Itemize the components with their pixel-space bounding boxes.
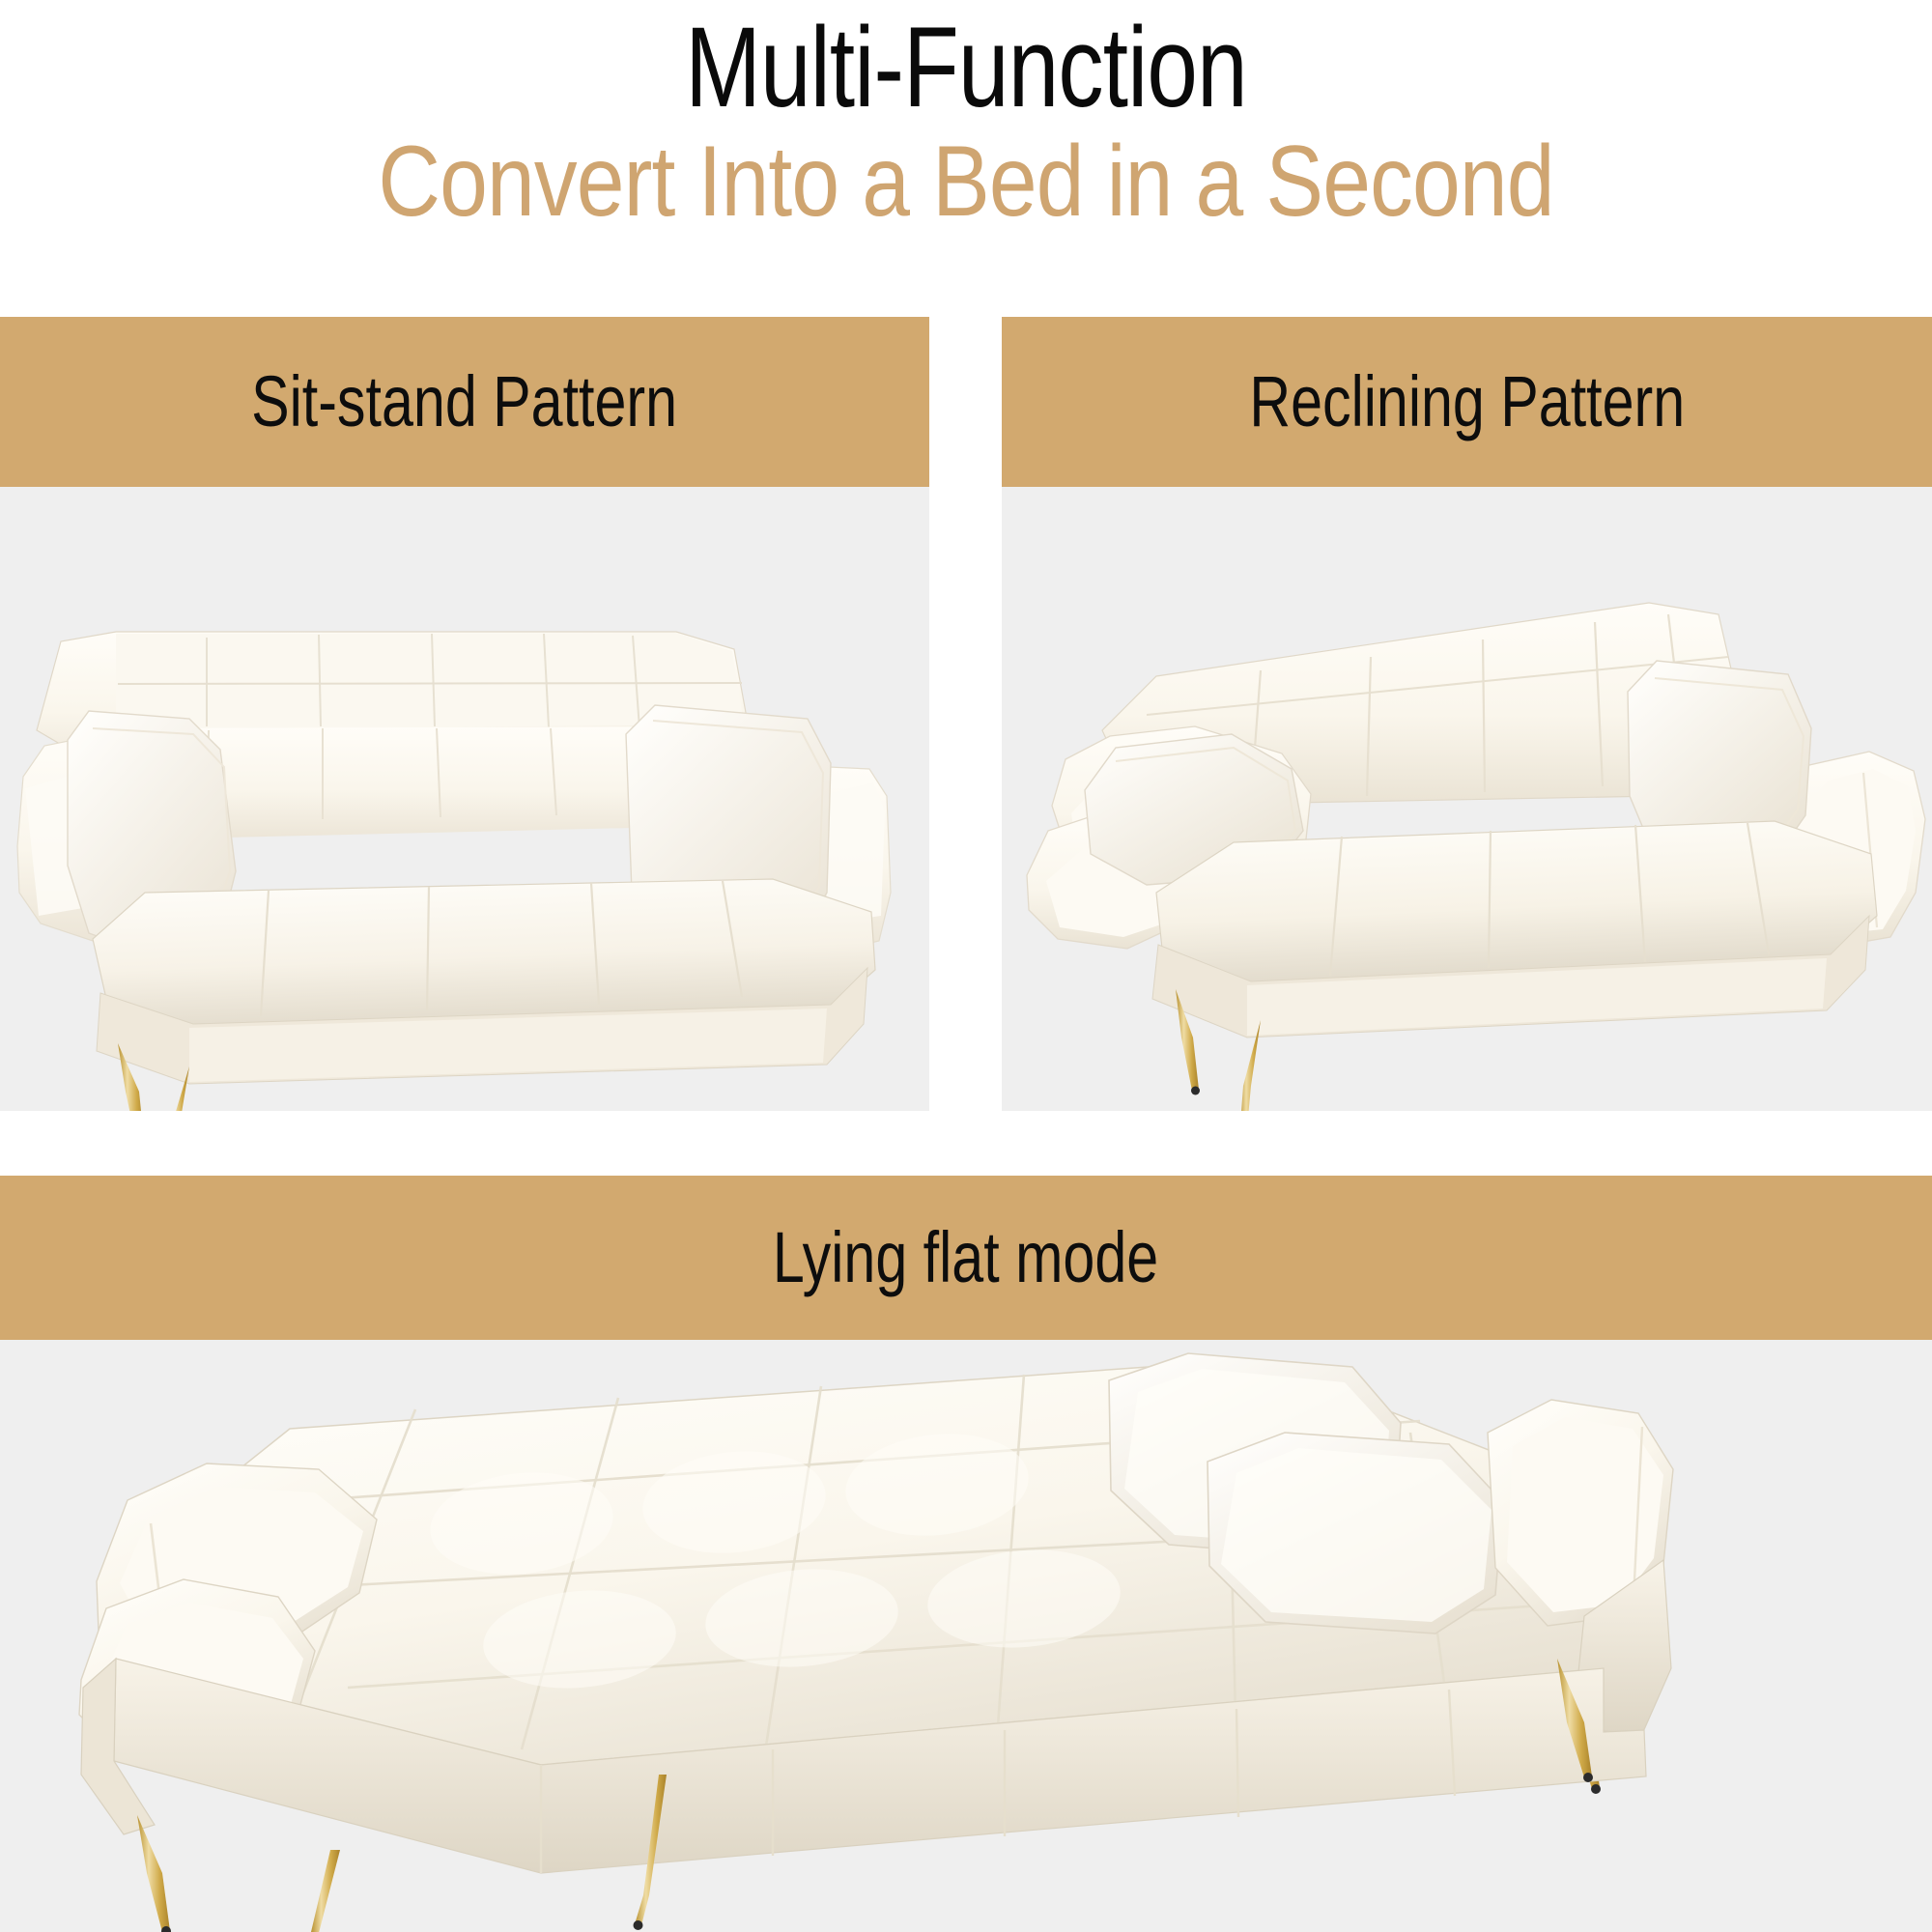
banner-reclining: Reclining Pattern bbox=[1002, 317, 1932, 487]
banner-label-lying-flat: Lying flat mode bbox=[773, 1219, 1158, 1296]
infographic-page: Multi-Function Convert Into a Bed in a S… bbox=[0, 0, 1932, 1932]
page-title: Multi-Function bbox=[193, 6, 1739, 129]
panel-lying-flat: Lying flat mode bbox=[0, 1176, 1932, 1932]
banner-label-sit-stand: Sit-stand Pattern bbox=[252, 363, 678, 440]
panel-sit-stand: Sit-stand Pattern bbox=[0, 317, 929, 1111]
banner-sit-stand: Sit-stand Pattern bbox=[0, 317, 929, 487]
banner-label-reclining: Reclining Pattern bbox=[1249, 363, 1685, 440]
sofa-sit-stand-illustration bbox=[0, 487, 929, 1111]
product-photo-lying-flat bbox=[0, 1340, 1932, 1932]
header: Multi-Function Convert Into a Bed in a S… bbox=[0, 0, 1932, 309]
panel-reclining: Reclining Pattern bbox=[1002, 317, 1932, 1111]
product-photo-sit-stand bbox=[0, 487, 929, 1111]
product-photo-reclining bbox=[1002, 487, 1932, 1111]
page-subtitle: Convert Into a Bed in a Second bbox=[135, 126, 1797, 238]
bed-pillow-front bbox=[1207, 1433, 1503, 1634]
sofa-seat bbox=[93, 879, 875, 1028]
sofa-reclining-illustration bbox=[1002, 487, 1932, 1111]
banner-lying-flat: Lying flat mode bbox=[0, 1176, 1932, 1340]
sofa-bed-flat-illustration bbox=[0, 1340, 1932, 1932]
